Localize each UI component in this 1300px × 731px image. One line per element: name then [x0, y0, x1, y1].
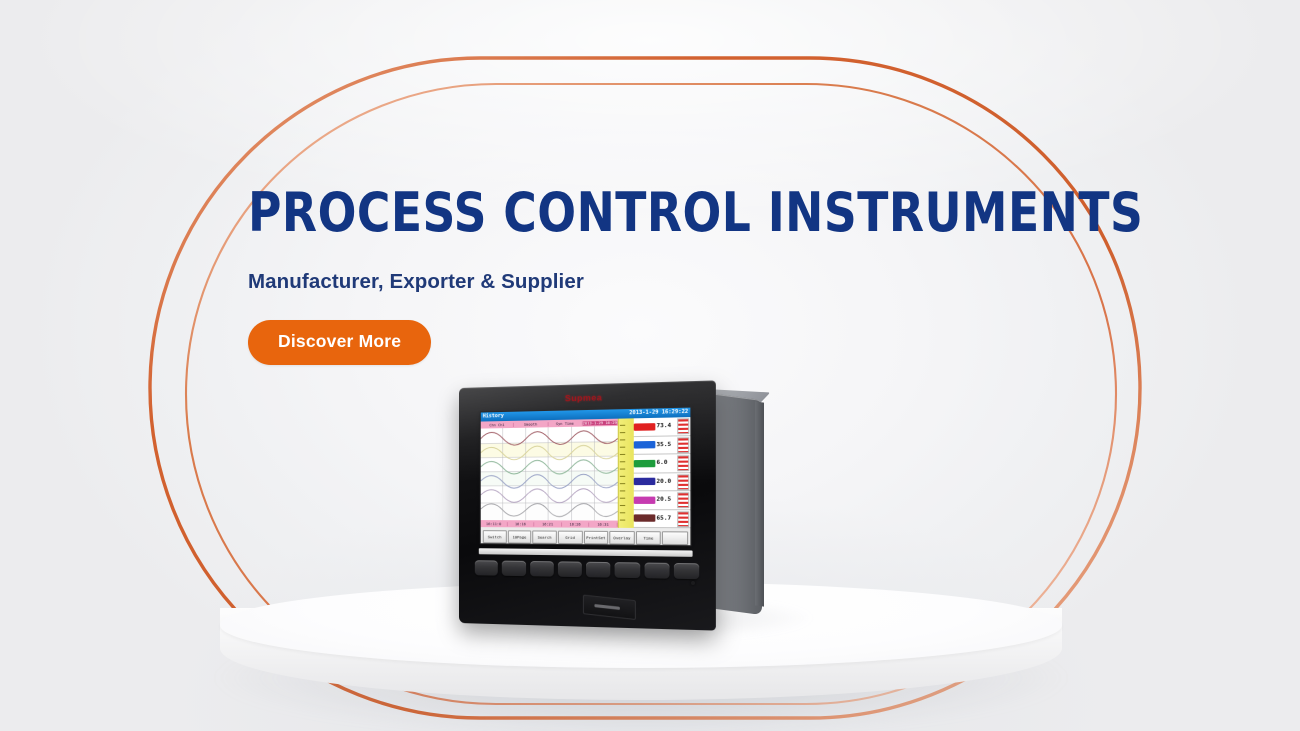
hero-subtitle: Manufacturer, Exporter & Supplier	[248, 270, 1068, 294]
alarm-indicator-icon	[677, 474, 689, 490]
keypad-button[interactable]	[615, 562, 640, 578]
lcd-body: Chn Ch1 Smooth Syn Time 2013-1-29 16:29:…	[481, 417, 691, 528]
keypad-button[interactable]	[674, 563, 700, 579]
channel-row[interactable]: 73.4	[634, 417, 691, 436]
channel-color-swatch	[634, 460, 656, 468]
channel-value: 73.4	[656, 423, 671, 430]
channel-color-swatch	[634, 478, 656, 485]
trend-head-cell: Smooth	[514, 422, 548, 427]
trend-footer-row: 16:11:0 16:16 16:21 16:26 16:31	[481, 520, 618, 528]
trend-curves	[481, 426, 618, 521]
channel-readout-panel: 73.4 35.5 6.0	[634, 417, 691, 528]
channel-value: 20.5	[656, 497, 671, 503]
page-title: PROCESS CONTROL INSTRUMENTS	[248, 186, 1019, 240]
usb-port-icon	[583, 595, 636, 621]
lcd-softkey-10page[interactable]: 10Page	[507, 530, 531, 543]
trend-foot-cell: 16:16	[507, 522, 534, 526]
channel-row[interactable]: 35.5	[634, 436, 691, 455]
alarm-indicator-icon	[677, 492, 689, 508]
trend-head-cell: Syn Time	[548, 421, 583, 426]
hero-copy: PROCESS CONTROL INSTRUMENTS Manufacturer…	[248, 186, 1068, 365]
keypad-button[interactable]	[502, 561, 526, 577]
trend-foot-cell: 16:26	[562, 522, 590, 526]
channel-color-swatch	[634, 515, 656, 522]
trend-head-cell-highlight: 2013-1-29 16:29:22	[583, 420, 618, 425]
trend-plot-area	[481, 426, 618, 521]
trend-chart[interactable]: Chn Ch1 Smooth Syn Time 2013-1-29 16:29:…	[481, 419, 618, 528]
lcd-softkey-grid[interactable]: Grid	[558, 530, 583, 544]
hardware-keypad	[475, 560, 699, 586]
lcd-screen-title: History	[483, 414, 504, 420]
channel-row[interactable]: 6.0	[634, 454, 691, 473]
lcd-softkey-blank[interactable]	[662, 531, 688, 545]
lcd-softkey-printset[interactable]: PrintSet	[583, 530, 608, 544]
alarm-indicator-icon	[677, 511, 689, 527]
lcd-softkey-row: Switch 10Page Search Grid PrintSet Overl…	[481, 527, 691, 545]
brand-logo: Supmea	[459, 389, 716, 406]
trend-foot-cell: 16:31	[590, 522, 618, 526]
alarm-indicator-icon	[677, 418, 689, 434]
channel-color-swatch	[634, 496, 656, 503]
trend-head-cell: Chn Ch1	[481, 422, 514, 427]
channel-value: 35.5	[656, 442, 671, 449]
alarm-indicator-icon	[677, 455, 689, 471]
product-image-paperless-recorder: Supmea History 2013-1-29 16:29:22 Chn Ch…	[455, 385, 795, 635]
trend-foot-cell: 16:21	[534, 522, 561, 526]
discover-more-button[interactable]: Discover More	[248, 320, 431, 365]
channel-color-swatch	[634, 441, 656, 449]
channel-row[interactable]: 20.5	[634, 491, 691, 510]
channel-row[interactable]: 20.0	[634, 473, 691, 492]
channel-value: 65.7	[656, 515, 671, 521]
device-lcd-screen[interactable]: History 2013-1-29 16:29:22 Chn Ch1 Smoot…	[481, 408, 691, 546]
lcd-softkey-search[interactable]: Search	[532, 530, 556, 543]
lcd-softkey-switch[interactable]: Switch	[483, 530, 507, 543]
device-front-bezel: Supmea History 2013-1-29 16:29:22 Chn Ch…	[459, 380, 716, 630]
vertical-scale-bar	[618, 418, 634, 528]
channel-value: 20.0	[656, 478, 671, 484]
keypad-button[interactable]	[586, 562, 611, 578]
trend-foot-cell: 16:11:0	[481, 522, 508, 526]
alarm-indicator-icon	[677, 437, 689, 453]
keypad-button[interactable]	[475, 560, 498, 575]
status-led-icon	[691, 581, 695, 585]
lcd-softkey-time[interactable]: Time	[636, 531, 662, 545]
keypad-button[interactable]	[530, 561, 554, 577]
lcd-softkey-overlay[interactable]: Overlay	[609, 530, 634, 544]
hero-banner: PROCESS CONTROL INSTRUMENTS Manufacturer…	[0, 0, 1300, 731]
channel-row[interactable]: 65.7	[634, 510, 691, 529]
device-rear-edge	[755, 401, 764, 606]
lcd-datetime: 2013-1-29 16:29:22	[629, 410, 688, 417]
bezel-accent-strip	[479, 548, 693, 557]
keypad-button[interactable]	[558, 561, 582, 577]
keypad-button[interactable]	[644, 563, 669, 579]
channel-color-swatch	[634, 423, 656, 431]
channel-value: 6.0	[656, 460, 667, 466]
